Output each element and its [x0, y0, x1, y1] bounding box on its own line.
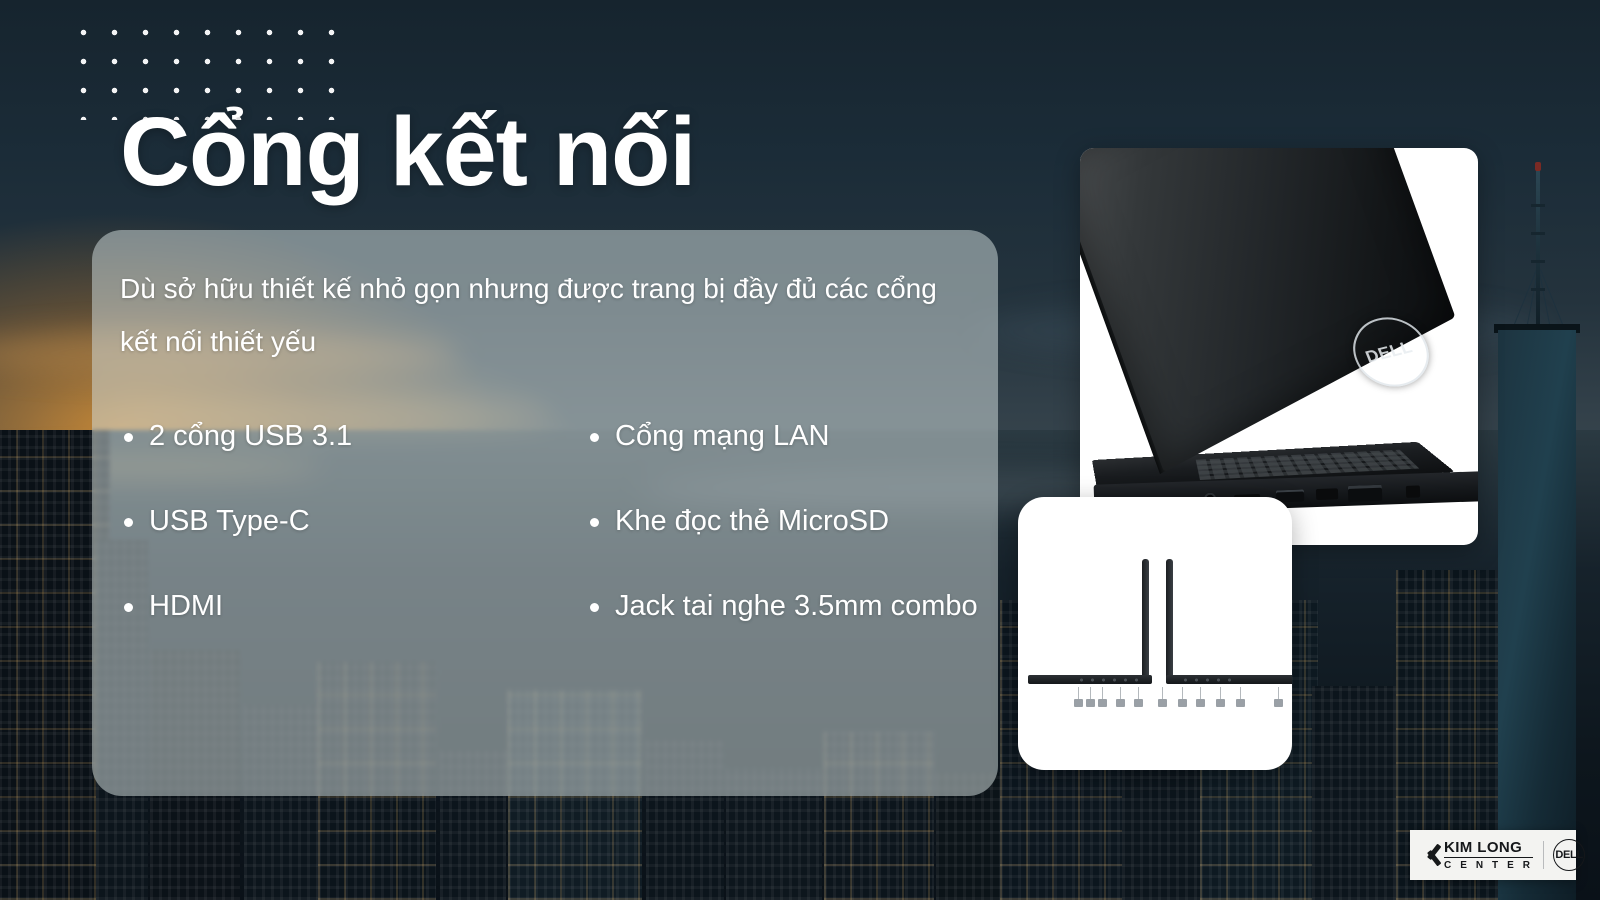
list-item: USB Type-C: [114, 505, 556, 590]
port-callout-marker: [1086, 699, 1095, 707]
list-item-label: HDMI: [149, 590, 223, 623]
tower-spire: [1536, 170, 1540, 328]
laptop-rear-photo: [1080, 148, 1478, 545]
port-callout-marker: [1158, 699, 1167, 707]
list-item: Cổng mạng LAN: [580, 420, 998, 505]
list-item-label: 2 cổng USB 3.1: [149, 420, 352, 453]
list-item-label: Cổng mạng LAN: [615, 420, 829, 453]
port-callout-marker: [1236, 699, 1245, 707]
bullet-dot-icon: [124, 603, 133, 612]
lock-slot-port: [1406, 485, 1420, 497]
list-item-label: Khe đọc thẻ MicroSD: [615, 505, 889, 538]
bullet-dot-icon: [124, 433, 133, 442]
feature-columns: 2 cổng USB 3.1 USB Type-C HDMI Cổng mạng…: [114, 420, 998, 675]
kim-long-center-wordmark: KIM LONG C E N T E R: [1444, 840, 1533, 871]
brand-logo-bar: KIM LONG C E N T E R DELL: [1410, 830, 1576, 880]
slide-canvas: Cổng kết nối Dù sở hữu thiết kế nhỏ gọn …: [0, 0, 1600, 900]
laptop-side-ports: [1180, 678, 1238, 682]
list-item-label: Jack tai nghe 3.5mm combo: [615, 590, 978, 623]
laptop-screen-edge: [1142, 559, 1149, 677]
feature-column-right: Cổng mạng LAN Khe đọc thẻ MicroSD Jack t…: [556, 420, 998, 675]
content-card: Dù sở hữu thiết kế nhỏ gọn nhưng được tr…: [92, 230, 998, 796]
port-callout-marker: [1074, 699, 1083, 707]
port-callout-marker: [1178, 699, 1187, 707]
tower-one-world-trade: [1498, 330, 1576, 900]
chevron-left-icon: [1419, 840, 1441, 870]
list-item: Jack tai nghe 3.5mm combo: [580, 590, 998, 675]
list-item-label: USB Type-C: [149, 505, 310, 538]
laptop-lid: [1080, 148, 1455, 472]
port-callout-marker: [1196, 699, 1205, 707]
logo-divider: [1543, 841, 1544, 869]
laptop-profiles-photo: [1018, 497, 1292, 770]
dell-partner-logo: DELL: [1553, 839, 1585, 871]
bullet-dot-icon: [590, 433, 599, 442]
brand-name-line1: KIM LONG: [1444, 840, 1533, 858]
port-callout-marker: [1274, 699, 1283, 707]
feature-column-left: 2 cổng USB 3.1 USB Type-C HDMI: [114, 420, 556, 675]
list-item: HDMI: [114, 590, 556, 675]
building-silhouette: [1312, 686, 1404, 900]
list-item: 2 cổng USB 3.1: [114, 420, 556, 505]
laptop-profile-right: [1164, 559, 1292, 699]
laptop-side-ports: [1076, 678, 1138, 682]
bullet-dot-icon: [590, 518, 599, 527]
usb-port: [1316, 488, 1338, 500]
lan-port: [1348, 485, 1383, 502]
bullet-dot-icon: [124, 518, 133, 527]
page-title: Cổng kết nối: [120, 101, 695, 203]
bullet-dot-icon: [590, 603, 599, 612]
port-callout-marker: [1134, 699, 1143, 707]
brand-name-line2: C E N T E R: [1444, 861, 1533, 871]
port-callout-marker: [1098, 699, 1107, 707]
port-callout-marker: [1116, 699, 1125, 707]
intro-paragraph: Dù sở hữu thiết kế nhỏ gọn nhưng được tr…: [120, 262, 980, 368]
list-item: Khe đọc thẻ MicroSD: [580, 505, 998, 590]
dell-partner-label: DELL: [1554, 849, 1584, 861]
laptop-profile-left: [1024, 559, 1152, 699]
laptop-screen-edge: [1166, 559, 1173, 677]
port-callout-marker: [1216, 699, 1225, 707]
